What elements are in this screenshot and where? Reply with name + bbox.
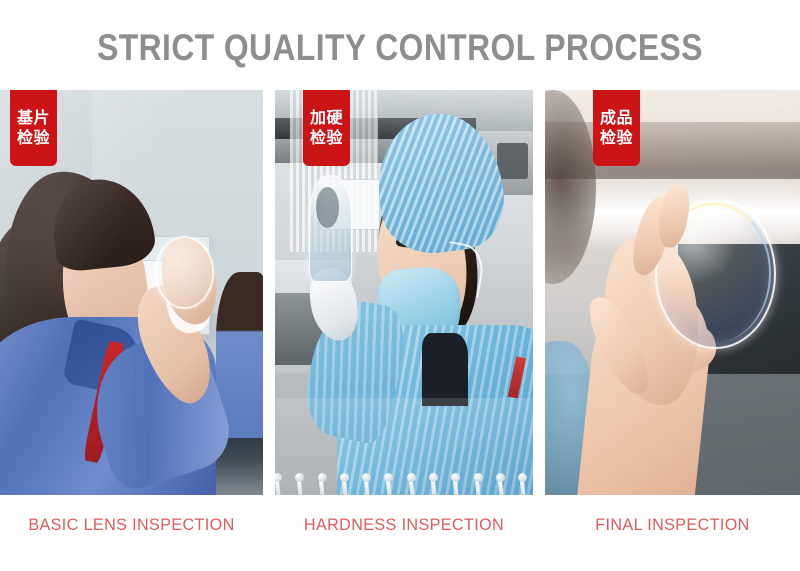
panel-captions: BASIC LENS INSPECTION HARDNESS INSPECTIO… [0,505,800,545]
badge-final-inspection: 成品 检验 [593,90,640,166]
badge-line-2: 检验 [17,128,50,148]
badge-line-2: 检验 [310,128,343,148]
badge-hardness-inspection: 加硬 检验 [303,90,350,166]
badge-basic-lens-inspection: 基片 检验 [10,90,57,166]
caption-final-inspection: FINAL INSPECTION [551,505,793,545]
inspection-panels: 基片 检验 [0,90,800,495]
caption-basic-lens-inspection: BASIC LENS INSPECTION [7,505,257,545]
photo1-lens [155,236,214,309]
badge-line-1: 加硬 [310,108,343,128]
panel-final-inspection[interactable]: 成品 检验 [545,90,800,495]
badge-line-2: 检验 [600,128,633,148]
panel-basic-lens-inspection[interactable]: 基片 检验 [0,90,263,495]
photo2-shelf-box [497,143,528,179]
photo2-lens-rack [275,398,533,495]
badge-line-1: 基片 [17,108,50,128]
photo-final-inspection [545,90,800,495]
photo2-inner-shirt [422,333,468,406]
caption-hardness-inspection: HARDNESS INSPECTION [281,505,526,545]
badge-line-1: 成品 [600,108,633,128]
quality-control-banner: STRICT QUALITY CONTROL PROCESS [0,0,800,571]
panel-hardness-inspection[interactable]: 加硬 检验 [275,90,533,495]
page-title: STRICT QUALITY CONTROL PROCESS [56,26,744,70]
